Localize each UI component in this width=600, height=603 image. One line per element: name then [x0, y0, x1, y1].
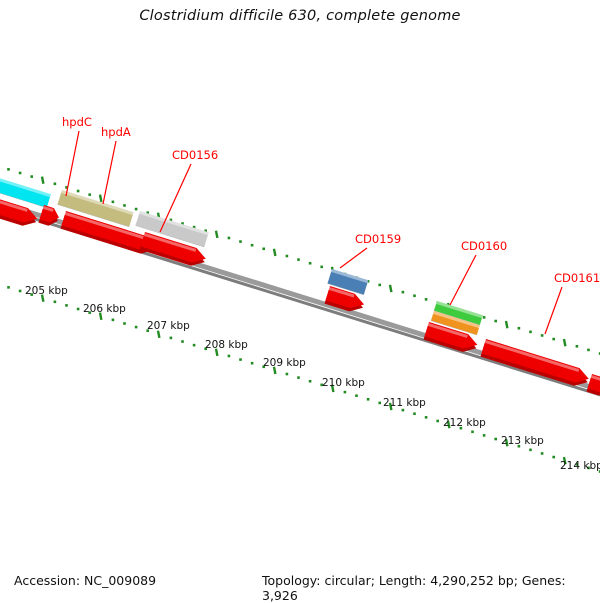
ruler-minor-tick: [355, 394, 358, 397]
ruler-tick-label: 212 kbp: [443, 417, 486, 429]
ruler-minor-tick: [286, 255, 289, 258]
ruler-minor-tick: [77, 190, 80, 193]
ruler-minor-tick: [529, 449, 532, 452]
ruler-minor-tick: [425, 298, 428, 301]
gene-label-cd0156[interactable]: CD0156: [172, 148, 218, 162]
ruler-tick-label: 213 kbp: [501, 435, 544, 447]
ruler-minor-tick: [239, 358, 242, 361]
ruler-major-tick: [506, 321, 507, 328]
leader-line-cd0156: [160, 164, 191, 232]
ruler-minor-tick: [251, 244, 254, 247]
ruler-upper: [0, 159, 600, 359]
ruler-minor-tick: [529, 331, 532, 334]
ruler-minor-tick: [402, 291, 405, 294]
gene-label-cd0160[interactable]: CD0160: [461, 239, 507, 253]
ruler-tick-label: 207 kbp: [147, 320, 190, 332]
ruler-minor-tick: [378, 284, 381, 287]
ruler-tick-label: 206 kbp: [83, 303, 126, 315]
ruler-minor-tick: [320, 266, 323, 269]
gene-label-hpdc[interactable]: hpdC: [62, 115, 92, 129]
ruler-minor-tick: [297, 258, 300, 261]
ruler-minor-tick: [193, 344, 196, 347]
leader-line-hpdc: [66, 131, 79, 196]
ruler-minor-tick: [436, 420, 439, 423]
ruler-minor-tick: [135, 326, 138, 329]
ruler-minor-tick: [518, 327, 521, 330]
ruler-major-tick: [564, 339, 565, 346]
ruler-minor-tick: [112, 319, 115, 322]
ruler-minor-tick: [251, 362, 254, 365]
accession-text: Accession: NC_009089: [14, 573, 156, 588]
gene-label-cd0161[interactable]: CD0161: [554, 271, 600, 285]
ruler-minor-tick: [425, 416, 428, 419]
ruler-minor-tick: [123, 204, 126, 207]
ruler-minor-tick: [7, 168, 10, 171]
ruler-minor-tick: [228, 355, 231, 358]
ruler-tick-label: 208 kbp: [205, 339, 248, 351]
ruler-minor-tick: [378, 402, 381, 405]
ruler-minor-tick: [77, 308, 80, 311]
ruler-minor-tick: [541, 334, 544, 337]
ruler-minor-tick: [228, 237, 231, 240]
ruler-minor-tick: [239, 240, 242, 243]
ruler-tick-label: 210 kbp: [322, 377, 365, 389]
ruler-minor-tick: [65, 304, 68, 307]
leader-line-cd0161: [545, 287, 562, 334]
ruler-minor-tick: [494, 320, 497, 323]
ruler-minor-tick: [54, 300, 57, 303]
ruler-minor-tick: [309, 380, 312, 383]
ruler-major-tick: [216, 231, 217, 238]
ruler-minor-tick: [88, 193, 91, 196]
ruler-minor-tick: [309, 262, 312, 265]
ruler-major-tick: [100, 195, 101, 202]
ruler-minor-tick: [286, 373, 289, 376]
gene-label-hpda[interactable]: hpdA: [101, 125, 131, 139]
ruler-minor-tick: [367, 398, 370, 401]
ruler-minor-tick: [344, 391, 347, 394]
ruler-major-tick: [42, 177, 43, 184]
gene-label-cd0159[interactable]: CD0159: [355, 232, 401, 246]
genome-stats-text: Topology: circular; Length: 4,290,252 bp…: [262, 573, 600, 603]
ruler-minor-tick: [297, 376, 300, 379]
ruler-minor-tick: [19, 172, 22, 175]
ruler-minor-tick: [413, 294, 416, 297]
ruler-minor-tick: [541, 452, 544, 455]
ruler-tick-label: 211 kbp: [383, 397, 426, 409]
ruler-minor-tick: [54, 182, 57, 185]
ruler-minor-tick: [135, 208, 138, 211]
ruler-minor-tick: [576, 345, 579, 348]
ruler-minor-tick: [552, 456, 555, 459]
gene-arrow-8[interactable]: [587, 374, 600, 398]
leader-line-cd0160: [450, 255, 476, 305]
ruler-minor-tick: [494, 438, 497, 441]
ruler-tick-label: 205 kbp: [25, 285, 68, 297]
genome-viewer: Clostridium difficile 630, complete geno…: [0, 0, 600, 600]
ruler-minor-tick: [123, 322, 126, 325]
ruler-tick-label: 209 kbp: [263, 357, 306, 369]
ruler-minor-tick: [112, 201, 115, 204]
ruler-tick-label: 214 kbp: [560, 460, 600, 472]
ruler-minor-tick: [552, 338, 555, 341]
ruler-minor-tick: [483, 316, 486, 319]
leader-line-hpda: [103, 141, 116, 204]
ruler-minor-tick: [262, 247, 265, 250]
ruler-minor-tick: [483, 434, 486, 437]
feature-boxes: [0, 174, 483, 335]
ruler-minor-tick: [181, 340, 184, 343]
ruler-minor-tick: [413, 412, 416, 415]
ruler-minor-tick: [587, 349, 590, 352]
leader-line-cd0159: [340, 248, 367, 268]
ruler-minor-tick: [471, 430, 474, 433]
ruler-minor-tick: [30, 175, 33, 178]
label-leader-lines: [66, 131, 562, 334]
ruler-minor-tick: [7, 286, 10, 289]
ruler-major-tick: [390, 285, 391, 292]
genome-graphics: [0, 0, 600, 600]
ruler-major-tick: [274, 249, 275, 256]
ruler-minor-tick: [19, 290, 22, 293]
ruler-minor-tick: [402, 409, 405, 412]
ruler-minor-tick: [170, 337, 173, 340]
